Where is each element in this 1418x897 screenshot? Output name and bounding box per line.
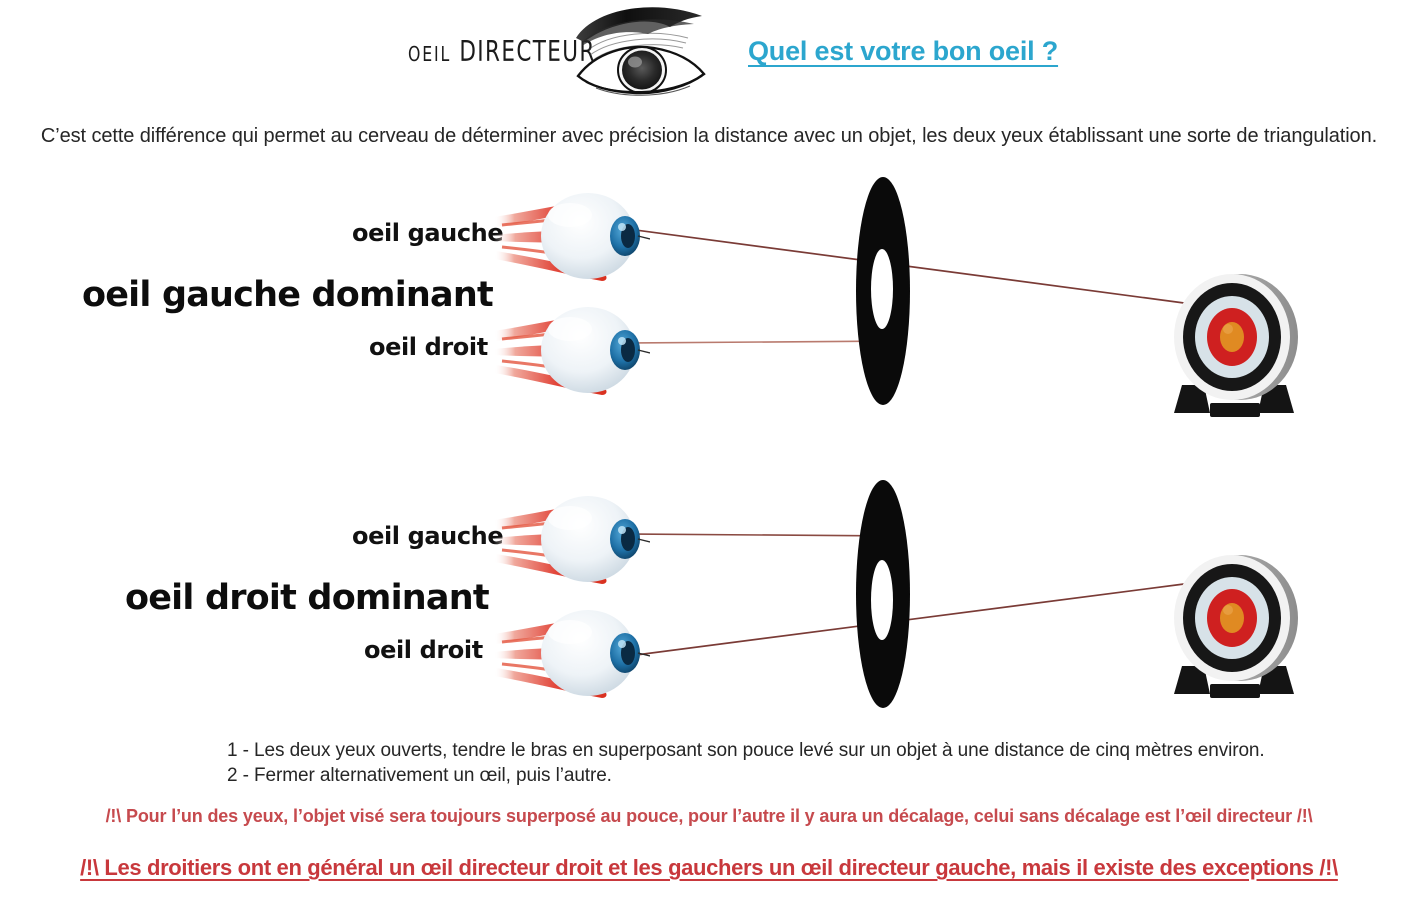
warning-note-primary: /!\ Pour l’un des yeux, l’objet visé ser… (0, 806, 1418, 827)
eyeball-icon-lower (492, 604, 650, 700)
lower-eye-label: oeil droit (364, 636, 483, 664)
page-title[interactable]: Quel est votre bon oeil ? (748, 36, 1058, 67)
upper-eye-label: oeil gauche (352, 219, 503, 247)
thumb-silhouette-icon (852, 478, 914, 710)
instruction-step-1: 1 - Les deux yeux ouverts, tendre le bra… (227, 738, 1265, 763)
dominant-eye-label: oeil gauche dominant (82, 275, 493, 315)
intro-paragraph: C’est cette différence qui permet au cer… (0, 125, 1418, 148)
upper-eye-label: oeil gauche (352, 522, 503, 550)
instruction-step-2: 2 - Fermer alternativement un œil, puis … (227, 763, 1265, 788)
eyeball-icon-upper (492, 187, 650, 283)
page-header: OEILDIRECTEUR (0, 0, 1418, 100)
diagram-right-eye-dominant: oeil droit dominant oeil gauche oeil dro… (0, 478, 1418, 728)
lower-eye-label: oeil droit (369, 333, 488, 361)
diagram-left-eye-dominant: oeil gauche dominant oeil gauche oeil dr… (0, 175, 1418, 425)
engraved-eye-icon (562, 2, 722, 98)
eyeball-icon-lower (492, 301, 650, 397)
dominant-eye-label: oeil droit dominant (125, 578, 489, 618)
brand-wordmark-part1: OEIL (408, 42, 451, 66)
instruction-steps: 1 - Les deux yeux ouverts, tendre le bra… (227, 738, 1265, 788)
warning-note-secondary: /!\ Les droitiers ont en général un œil … (0, 855, 1418, 881)
eyeball-icon-upper (492, 490, 650, 586)
archery-target-icon (1164, 273, 1304, 423)
thumb-silhouette-icon (852, 175, 914, 407)
archery-target-icon (1164, 554, 1304, 704)
